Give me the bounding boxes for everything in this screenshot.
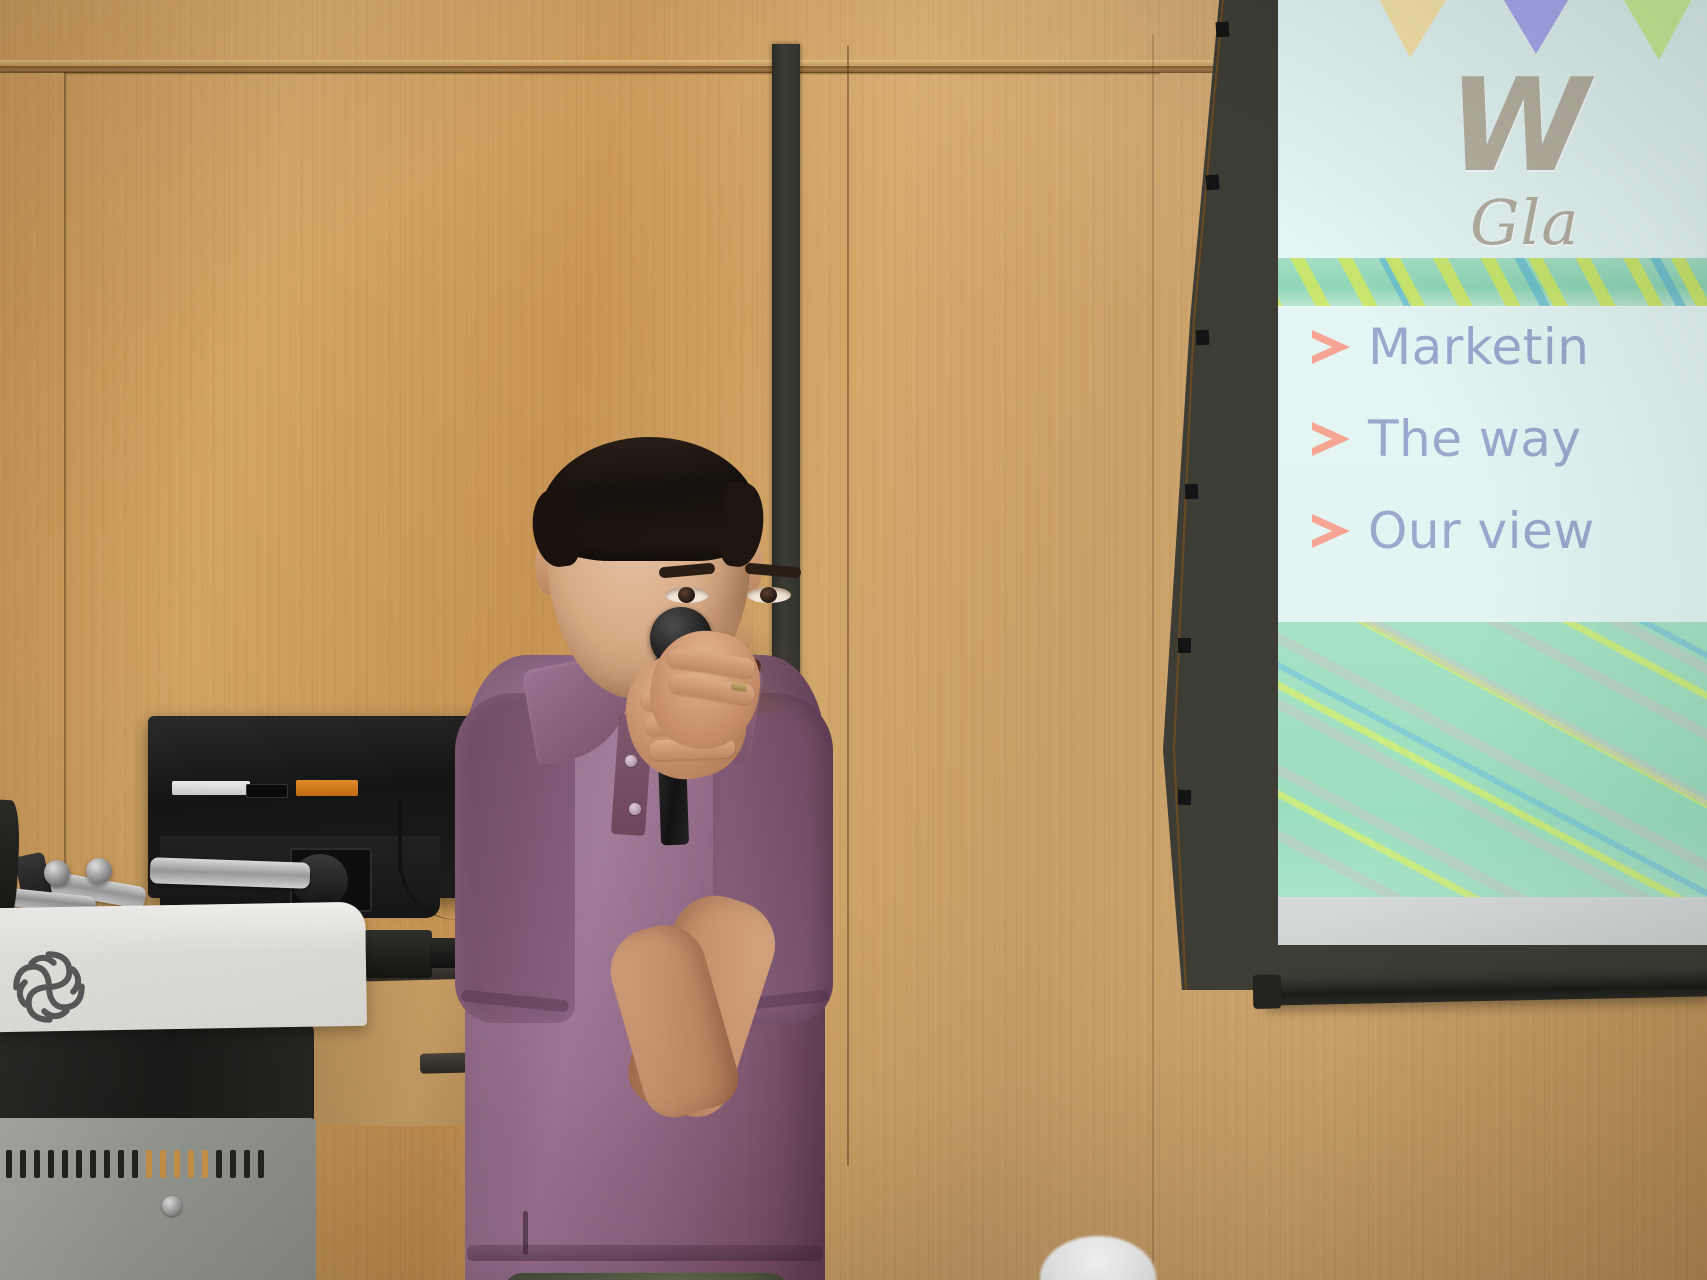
speaker (455, 425, 875, 1280)
slide-subtitle-text: Gla (1470, 186, 1579, 259)
list-item: The way (1312, 410, 1707, 468)
screen-projection-surface: W Gla Marketin The way Our view (1278, 0, 1707, 945)
monitor-arm-upper-segment[interactable] (150, 857, 311, 889)
wall-panel-seam-right (1152, 34, 1154, 1280)
shirt-side-slit (523, 1211, 528, 1255)
shirt-button (625, 755, 637, 767)
wall-panel-top-edge (64, 72, 1160, 75)
slide-accent-band (1278, 258, 1707, 306)
monitor-arm-knob[interactable] (86, 858, 112, 884)
monitor-arm-knob[interactable] (44, 860, 70, 886)
slide-bullet-list: Marketin The way Our view (1312, 318, 1707, 594)
iris-left (678, 587, 695, 603)
shirt-button (629, 803, 641, 815)
list-item: Our view (1312, 502, 1707, 560)
iris-right (760, 587, 777, 603)
bullet-text: Our view (1368, 502, 1595, 560)
triangle-periwinkle-icon (1474, 0, 1598, 54)
projection-screen: W Gla Marketin The way Our view (1160, 0, 1707, 1000)
monitor-serial-label (172, 781, 250, 795)
list-item: Marketin (1312, 318, 1707, 376)
arrow-bullet-icon (1312, 422, 1350, 456)
triangle-lime-icon (1595, 0, 1707, 61)
lectern-body (0, 1022, 314, 1126)
eye-left (665, 587, 709, 603)
hair (539, 437, 759, 561)
monitor-warning-label (296, 780, 358, 796)
av-device[interactable] (364, 930, 432, 978)
slide-canvas: W Gla Marketin The way Our view (1278, 0, 1707, 945)
lectern-base (0, 1118, 316, 1280)
eyebrow-left (659, 563, 716, 579)
arrow-bullet-icon (1312, 330, 1350, 364)
shirt-hem (467, 1245, 823, 1261)
screen-bar-end-cap (1253, 974, 1282, 1009)
bullet-text: The way (1368, 410, 1582, 468)
wall-trim-highlight (0, 60, 1245, 65)
arrow-bullet-icon (1312, 514, 1350, 548)
slide-bottom-strip (1278, 897, 1707, 945)
slide-logo-text: W (1448, 68, 1585, 186)
eye-right (747, 587, 791, 603)
polyu-knot-logo-icon (5, 943, 92, 1030)
trousers (503, 1273, 789, 1280)
presentation-scene: W Gla Marketin The way Our view (0, 0, 1707, 1280)
bullet-text: Marketin (1368, 318, 1589, 376)
slide-footer-graphic (1278, 622, 1707, 900)
lectern-cabinet-lock[interactable] (162, 1196, 182, 1216)
monitor-port-cluster (246, 784, 288, 798)
